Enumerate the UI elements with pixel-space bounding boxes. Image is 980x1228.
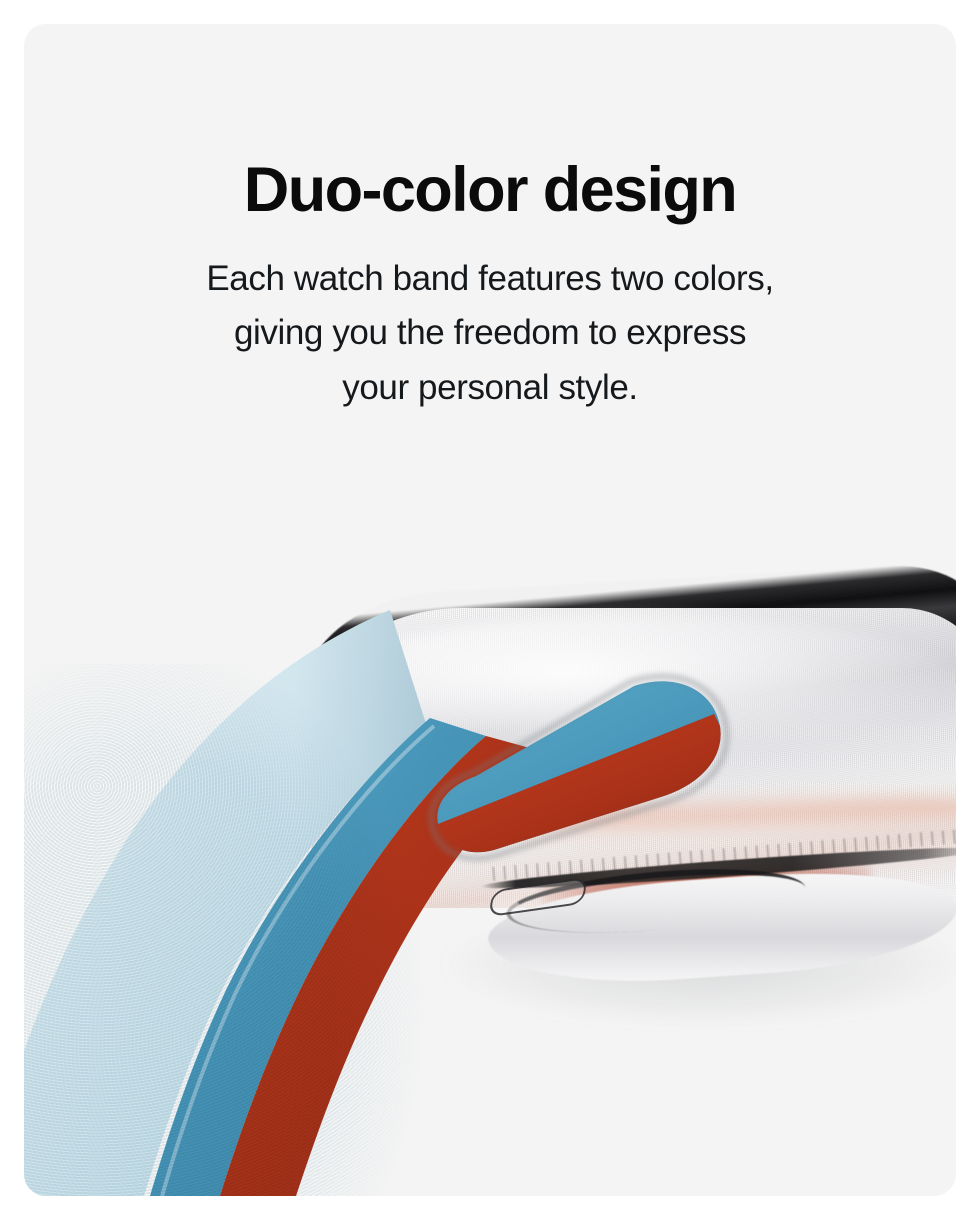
- description-line-3: your personal style.: [24, 361, 956, 416]
- feature-description: Each watch band features two colors, giv…: [24, 252, 956, 416]
- description-line-2: giving you the freedom to express: [24, 306, 956, 361]
- page-root: Duo-color design Each watch band feature…: [0, 0, 980, 1228]
- feature-card: Duo-color design Each watch band feature…: [24, 24, 956, 1196]
- description-line-1: Each watch band features two colors,: [24, 252, 956, 307]
- feature-copy: Duo-color design Each watch band feature…: [24, 24, 956, 415]
- page-title: Duo-color design: [24, 158, 956, 224]
